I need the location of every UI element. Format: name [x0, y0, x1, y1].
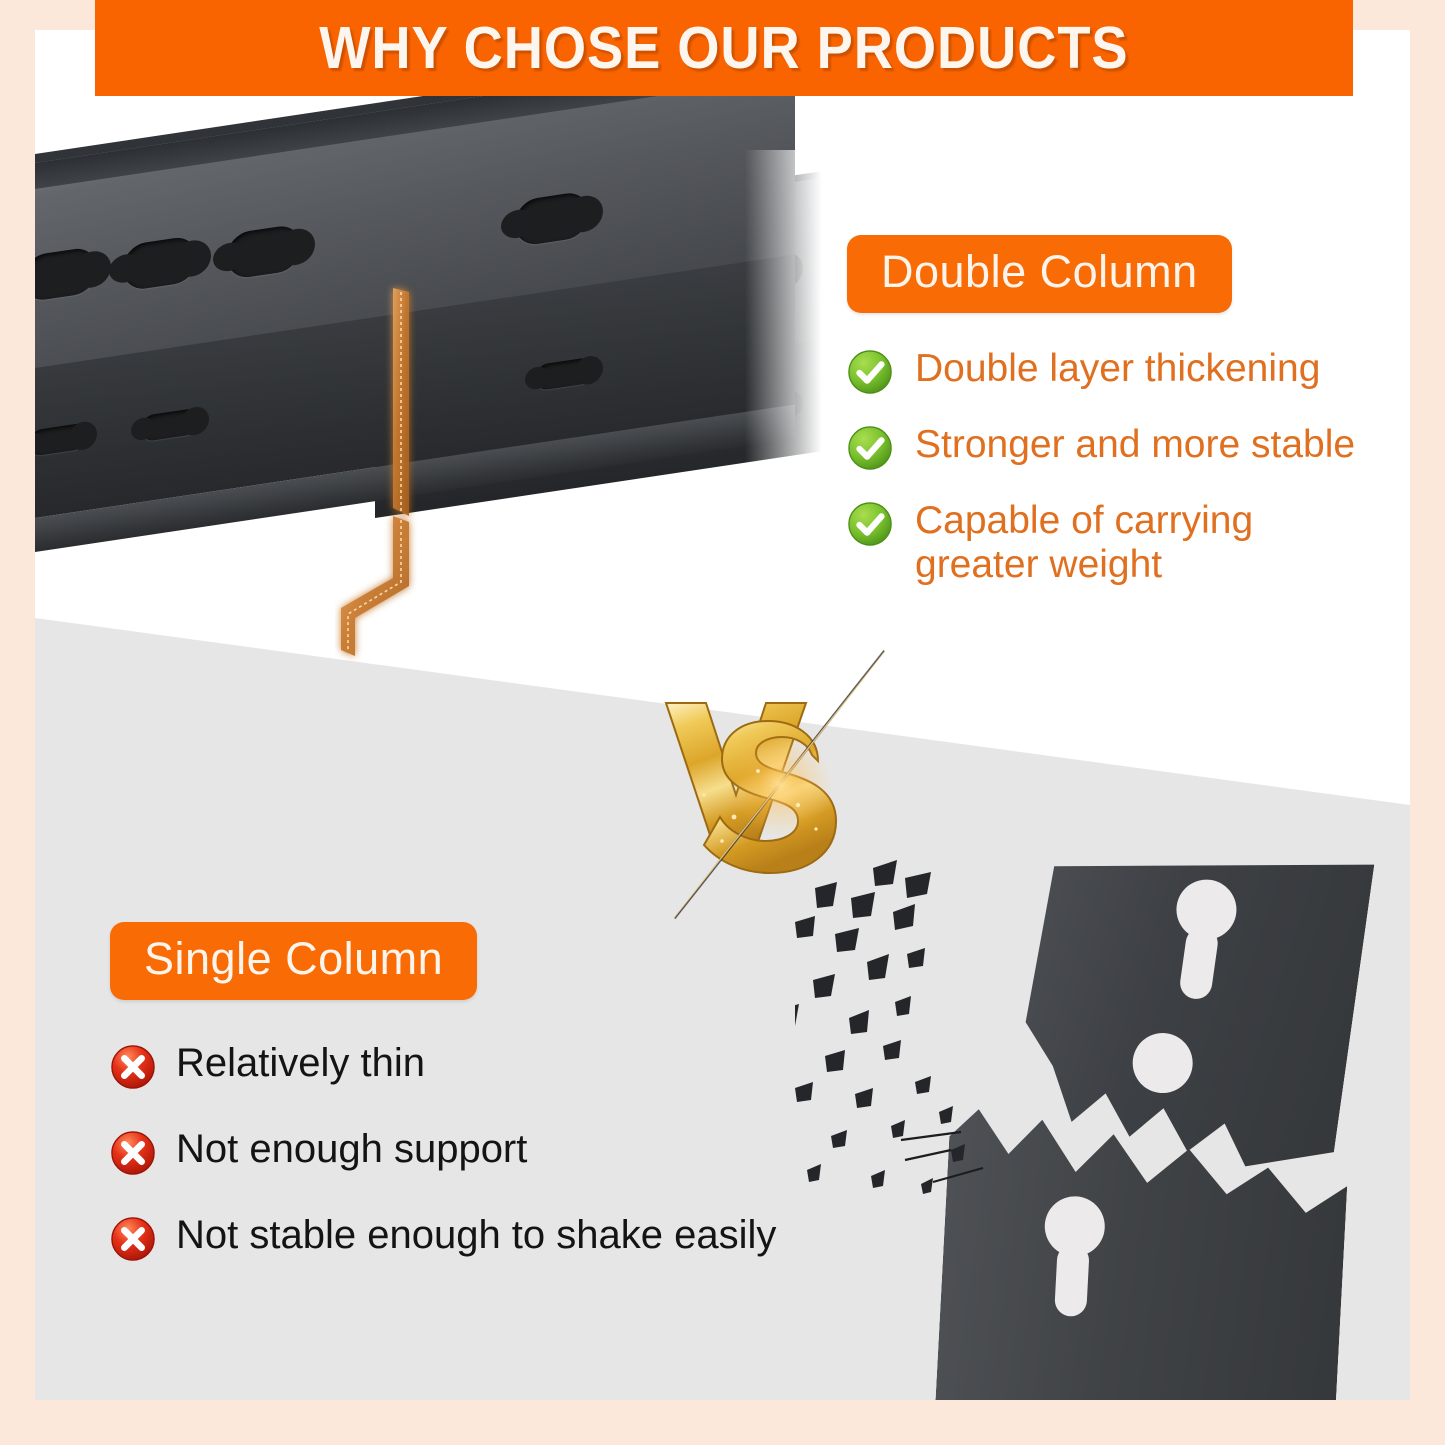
keyhole-slot — [1129, 1029, 1197, 1097]
list-item-label: Not enough support — [176, 1126, 527, 1171]
list-item-label: Relatively thin — [176, 1040, 425, 1085]
list-item-label: Not stable enough to shake easily — [176, 1212, 776, 1257]
keyhole-slot — [35, 422, 87, 457]
list-item-label: Double layer thickening — [915, 345, 1320, 391]
content-card: Double Column — [35, 30, 1410, 1400]
keyhole-slot — [535, 357, 593, 392]
versus-badge — [630, 645, 930, 925]
list-item: Not stable enough to shake easily — [110, 1212, 930, 1262]
keyhole-slot — [141, 408, 199, 443]
list-item: Double layer thickening — [847, 345, 1410, 395]
cross-circle-icon — [110, 1044, 156, 1090]
check-circle-icon — [847, 425, 893, 471]
page-title: WHY CHOSE OUR PRODUCTS — [319, 14, 1128, 82]
double-column-block: Double Column — [847, 235, 1410, 612]
double-column-badge: Double Column — [847, 235, 1232, 313]
keyhole-slot — [515, 190, 589, 247]
check-circle-icon — [847, 349, 893, 395]
keyhole-slot — [227, 223, 301, 280]
cross-circle-icon — [110, 1130, 156, 1176]
steel-rail-front — [35, 40, 795, 590]
check-circle-icon — [847, 501, 893, 547]
keyhole-slot — [1178, 925, 1220, 1001]
cross-circle-icon — [110, 1216, 156, 1262]
infographic-page: Double Column — [0, 0, 1445, 1445]
list-item: Relatively thin — [110, 1040, 930, 1090]
double-column-steel-rails-photo — [35, 150, 835, 650]
double-column-benefit-list: Double layer thickening Stronger and mor… — [847, 345, 1410, 586]
list-item: Not enough support — [110, 1126, 930, 1176]
single-column-block: Single Column — [110, 922, 930, 1298]
list-item-label: Stronger and more stable — [915, 421, 1355, 467]
list-item: Stronger and more stable — [847, 421, 1410, 471]
list-item-label: Capable of carrying greater weight — [915, 497, 1315, 586]
photo-right-fade — [745, 150, 835, 650]
single-column-drawback-list: Relatively thin Not enough support — [110, 1040, 930, 1262]
single-column-badge: Single Column — [110, 922, 477, 1000]
list-item: Capable of carrying greater weight — [847, 497, 1410, 586]
keyhole-slot — [35, 246, 97, 303]
keyhole-slot — [123, 235, 197, 292]
header-banner: WHY CHOSE OUR PRODUCTS — [95, 0, 1353, 96]
vs-gold-icon — [630, 645, 930, 925]
